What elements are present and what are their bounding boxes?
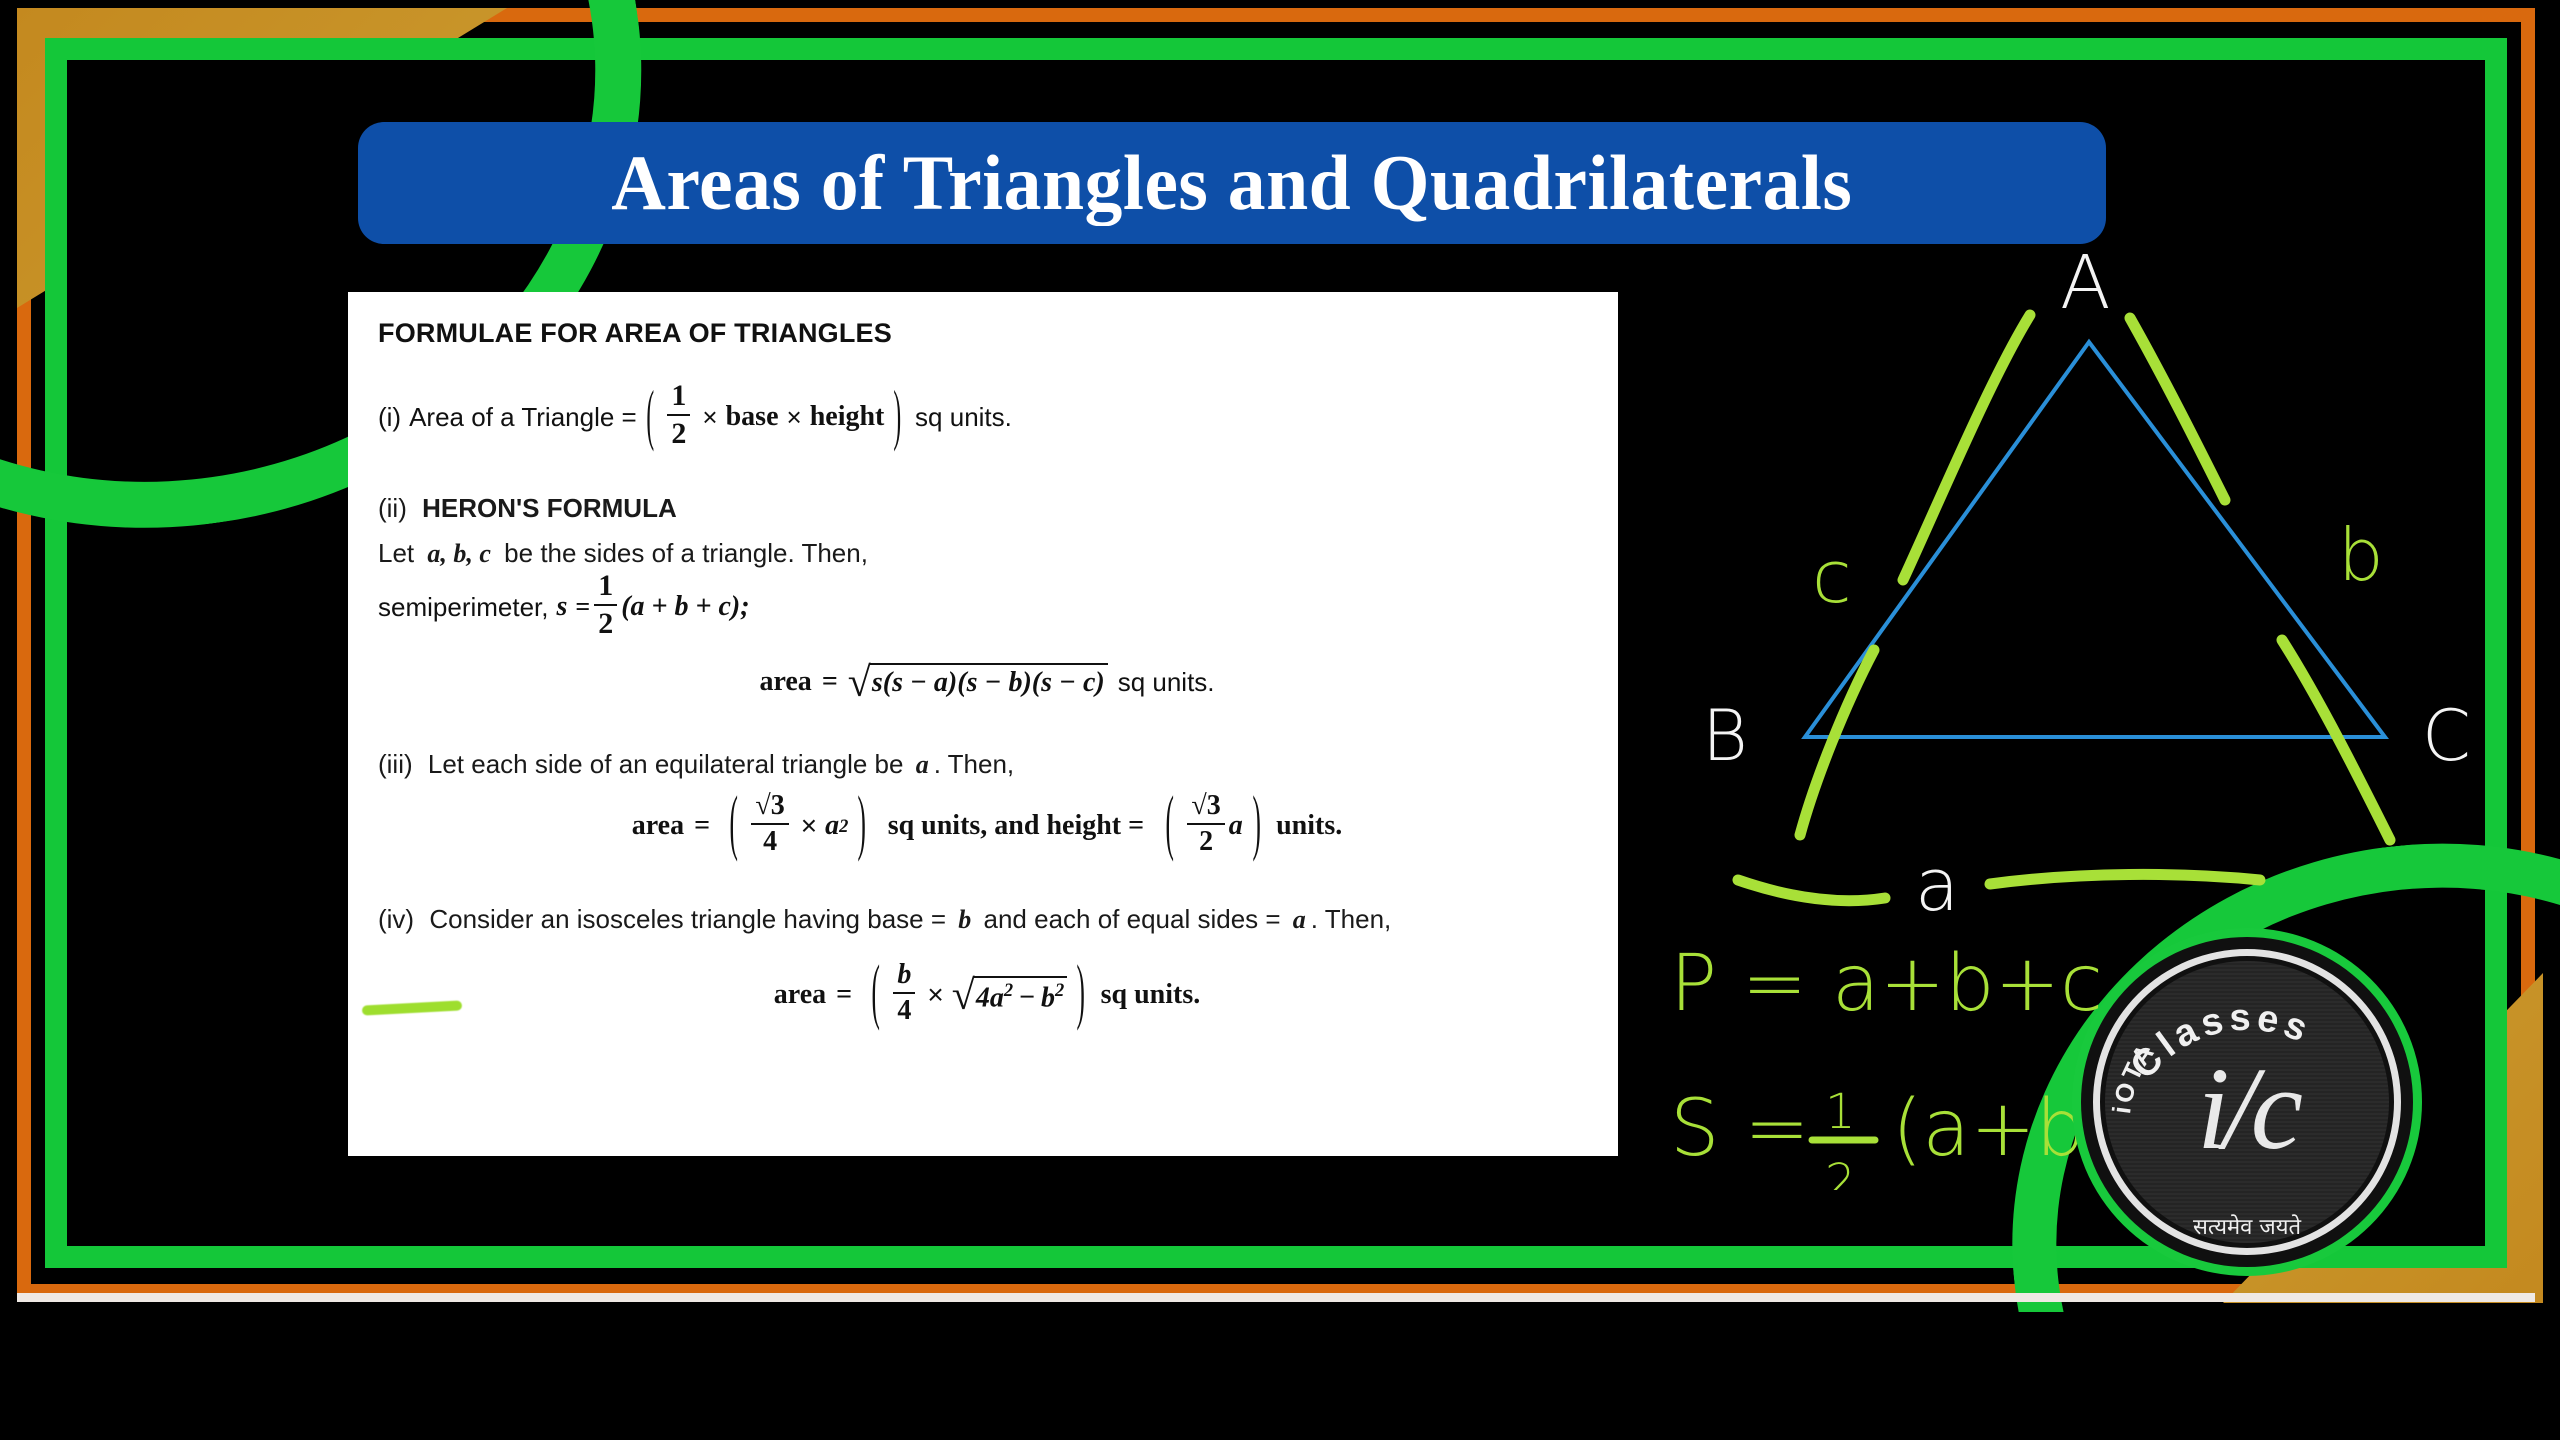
item-iii-root3: √3: [751, 792, 788, 820]
item-iv-times: ×: [927, 979, 943, 1011]
item-iv-rad-1: 4a: [976, 982, 1004, 1013]
item-iii-root3-b: √3: [1187, 792, 1224, 820]
item-i-times: ×: [702, 402, 717, 433]
item-ii-vars: a, b, c: [427, 539, 491, 568]
item-iv-area-label: area: [774, 979, 826, 1011]
paren-close-icon: ): [894, 377, 902, 455]
fraction-bar: [751, 823, 788, 825]
item-ii-title: HERON'S FORMULA: [422, 493, 677, 523]
paren-close-icon: ): [1077, 953, 1085, 1036]
formula-item-iii-text: (iii) Let each side of an equilateral tr…: [378, 747, 1596, 782]
handwritten-s-frac-den: 2: [1825, 1154, 1856, 1190]
item-ii-frac-den: 2: [594, 609, 617, 639]
item-iv-radicand: 4a2−b2: [973, 976, 1067, 1014]
item-ii-line2: semiperimeter, s = 1 2 (a + b + c);: [378, 573, 1596, 641]
logo-motto: सत्यमेव जयते: [2081, 1211, 2413, 1241]
item-iv-var-b: b: [958, 905, 971, 934]
vertex-label-a: A: [2060, 250, 2111, 326]
item-i-marker: (i): [378, 402, 401, 433]
item-iii-post: . Then,: [934, 749, 1014, 779]
item-iii-height-a: a: [1229, 810, 1243, 842]
handwritten-perimeter-formula: P = a+b+c: [1670, 939, 2103, 1029]
item-ii-radicand: s(s − a)(s − b)(s − c): [869, 663, 1108, 701]
item-iv-frac-num: b: [893, 961, 915, 989]
item-ii-area-eq: =: [822, 666, 838, 698]
item-ii-marker: (ii): [378, 493, 407, 523]
item-ii-line1-pre: Let: [378, 538, 414, 568]
item-iv-mid: and each of equal sides =: [984, 904, 1281, 934]
item-iii-pre: Let each side of an equilateral triangle…: [428, 749, 904, 779]
side-label-a: a: [1915, 843, 1959, 927]
item-ii-expr: (a + b + c);: [621, 591, 749, 623]
item-iv-units: sq units.: [1101, 979, 1201, 1011]
item-i-units: sq units.: [915, 402, 1012, 433]
item-iv-eq: =: [836, 979, 852, 1011]
paren-open-icon: (: [730, 783, 738, 866]
item-i-times-2: ×: [787, 402, 802, 433]
handwritten-s-formula-lhs: S =: [1670, 1084, 1810, 1174]
bottom-white-sliver: [17, 1293, 2535, 1302]
item-iii-units: units.: [1276, 810, 1342, 842]
side-label-c: c: [1812, 535, 1852, 619]
item-iii-area-label: area: [632, 810, 684, 842]
paren-close-icon: ): [858, 783, 866, 866]
bottom-letterbox: [0, 1312, 2560, 1440]
paren-open-icon: (: [646, 377, 654, 455]
item-iv-equation: area = ( b 4 × √ 4a2−b2 ) sq units.: [378, 963, 1596, 1027]
sqrt-icon: √ 4a2−b2: [952, 976, 1068, 1014]
side-label-b: b: [2338, 513, 2384, 597]
item-iv-var-a: a: [1293, 905, 1306, 934]
formula-item-i: (i) Area of a Triangle = ( 1 2 × base × …: [378, 383, 1596, 451]
item-i-text: Area of a Triangle =: [409, 402, 637, 433]
item-i-frac-den: 2: [667, 419, 690, 449]
item-iv-rad-minus: −: [1019, 982, 1035, 1013]
slide-title-banner: Areas of Triangles and Quadrilaterals: [358, 122, 2106, 244]
item-iv-rad-1-exp: 2: [1004, 980, 1013, 1000]
item-ii-area-label: area: [759, 666, 811, 698]
item-i-height: height: [810, 401, 885, 433]
item-iii-var: a: [916, 750, 929, 779]
paren-open-icon: (: [872, 953, 880, 1036]
fraction-bar: [893, 992, 915, 994]
logo-monogram: i/c: [2081, 1041, 2413, 1177]
handwritten-s-frac-num: 1: [1825, 1084, 1856, 1140]
side-c-marker-stroke-lower: [1800, 650, 1874, 835]
side-b-marker-stroke: [2130, 318, 2225, 500]
item-ii-line1: Let a, b, c be the sides of a triangle. …: [378, 536, 1596, 571]
fraction-bar: [1187, 823, 1224, 825]
item-iv-marker: (iv): [378, 904, 414, 934]
item-iii-a-exp: 2: [839, 816, 848, 837]
item-iv-rad-2-exp: 2: [1055, 980, 1064, 1000]
panel-heading: FORMULAE FOR AREA OF TRIANGLES: [378, 318, 1596, 349]
item-i-frac-num: 1: [667, 381, 690, 411]
item-iii-den-area: 4: [759, 828, 781, 856]
slide-canvas: Areas of Triangles and Quadrilaterals FO…: [0, 0, 2560, 1440]
triangle-outline: [1805, 342, 2385, 737]
item-ii-area-equation: area = √ s(s − a)(s − b)(s − c) sq units…: [378, 663, 1596, 701]
item-iv-post: . Then,: [1311, 904, 1391, 934]
formula-panel: FORMULAE FOR AREA OF TRIANGLES (i) Area …: [348, 292, 1618, 1156]
item-ii-units: sq units.: [1118, 667, 1215, 698]
vertex-label-b: B: [1702, 695, 1748, 777]
paren-open-icon: (: [1166, 783, 1174, 866]
iota-classes-logo: Classes iOTA i/c सत्यमेव जयते: [2072, 928, 2422, 1276]
item-ii-s: s: [557, 591, 568, 623]
formula-item-iv-text: (iv) Consider an isosceles triangle havi…: [378, 902, 1596, 937]
item-iii-den-height: 2: [1195, 828, 1217, 856]
item-iii-times: ×: [801, 810, 817, 842]
sqrt-icon: √ s(s − a)(s − b)(s − c): [848, 663, 1108, 701]
item-iv-rad-2: b: [1041, 982, 1055, 1013]
item-iv-frac-den: 4: [893, 997, 915, 1025]
side-a-marker-left: [1738, 880, 1885, 901]
item-iv-pre: Consider an isosceles triangle having ba…: [429, 904, 946, 934]
item-iii-mid-text: sq units, and height =: [888, 810, 1144, 842]
item-iii-marker: (iii): [378, 749, 413, 779]
page-title: Areas of Triangles and Quadrilaterals: [611, 138, 1852, 228]
side-a-marker-right: [1990, 874, 2260, 884]
item-iii-a: a: [825, 810, 839, 842]
item-iii-eq: =: [694, 810, 710, 842]
formula-item-ii-heading: (ii) HERON'S FORMULA: [378, 491, 1596, 526]
fraction-bar: [667, 414, 690, 416]
item-ii-frac-num: 1: [594, 571, 617, 601]
item-ii-eq: =: [575, 592, 590, 622]
item-ii-line2-pre: semiperimeter,: [378, 592, 549, 623]
paren-close-icon: ): [1252, 783, 1260, 866]
item-ii-line1-post: be the sides of a triangle. Then,: [504, 538, 868, 568]
fraction-bar: [594, 604, 617, 606]
vertex-label-c: C: [2422, 695, 2471, 777]
item-iii-equation: area = ( √3 4 × a2 ) sq units, and heigh…: [378, 794, 1596, 858]
item-i-base: base: [726, 401, 779, 433]
